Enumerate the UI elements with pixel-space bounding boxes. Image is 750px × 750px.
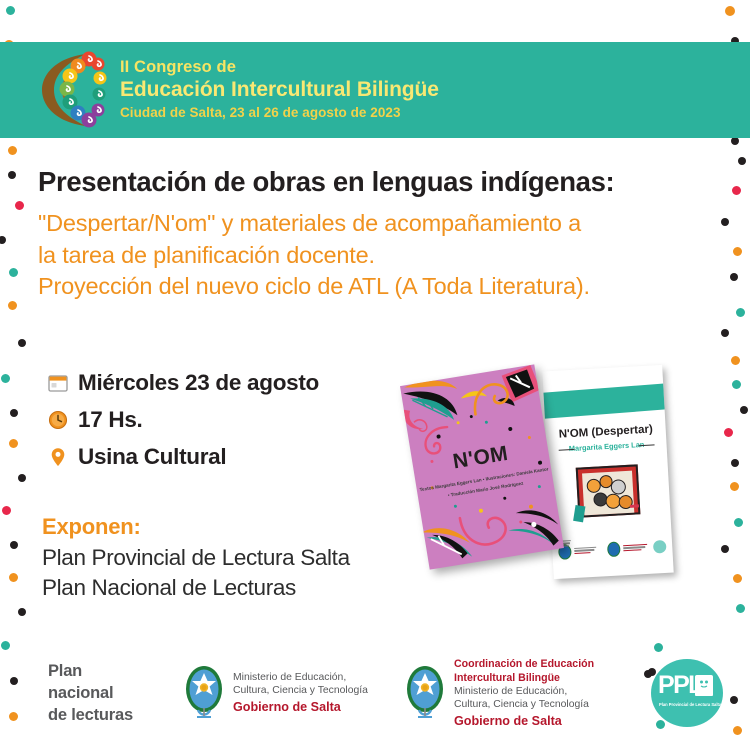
location-pin-icon <box>46 445 70 469</box>
decorative-dot <box>9 268 18 277</box>
decorative-dot <box>733 247 742 256</box>
presenter-item: Plan Nacional de Lecturas <box>42 573 350 603</box>
decorative-dot <box>732 186 741 195</box>
ppl-circle-logo <box>653 539 667 553</box>
decorative-dot <box>9 439 18 448</box>
gobierno-de-salta-label: Gobierno de Salta <box>233 699 368 715</box>
plan-nacional-de-lecturas-logo: Plan nacional de lecturas <box>48 661 133 727</box>
swirl-decoration <box>457 504 517 556</box>
detail-location-text: Usina Cultural <box>78 444 226 470</box>
salta-coordinacion-text: Coordinación de Educación Intercultural … <box>454 658 594 729</box>
curtain-shape <box>573 505 585 522</box>
congress-name: Educación Intercultural Bilingüe <box>120 77 439 103</box>
decorative-dot <box>721 218 729 226</box>
decorative-dot <box>2 506 11 515</box>
decorative-dot <box>18 608 26 616</box>
decorative-dot <box>0 236 6 244</box>
header-title-group: II Congreso de Educación Intercultural B… <box>120 57 439 123</box>
salta-coat-of-arms-icon <box>182 664 226 722</box>
accent-shape <box>630 504 639 507</box>
congress-place-dates: Ciudad de Salta, 23 al 26 de agosto de 2… <box>120 103 439 123</box>
mini-logo-text <box>623 544 647 552</box>
face <box>610 479 626 495</box>
pnl-line2: nacional <box>48 683 133 705</box>
subtitle-line-2: la tarea de planificación docente. <box>38 240 718 271</box>
subtitle-line-1: "Despertar/N'om" y materiales de acompañ… <box>38 208 718 239</box>
children-in-window-illustration <box>569 458 649 528</box>
coordinacion-line1: Coordinación de Educación <box>454 658 594 672</box>
decorative-dot <box>8 301 17 310</box>
decorative-dot <box>8 146 17 155</box>
confetti-dot <box>538 460 543 465</box>
decorative-dot <box>18 339 26 347</box>
gobierno-de-salta-label: Gobierno de Salta <box>454 713 594 729</box>
book-footer-logos <box>558 537 667 561</box>
swirl-decoration <box>466 374 516 421</box>
calendar-icon <box>46 371 70 395</box>
ministerio-line2: Cultura, Ciencia y Tecnología <box>233 684 368 697</box>
title-block: Presentación de obras en lenguas indígen… <box>38 166 718 302</box>
page-title: Presentación de obras en lenguas indígen… <box>38 166 718 198</box>
subtitle-line-3: Proyección del nuevo ciclo de ATL (A Tod… <box>38 271 718 302</box>
window-frame <box>576 464 641 517</box>
confetti-dot <box>454 505 457 508</box>
presenters-label: Exponen: <box>42 514 350 540</box>
ppl-circle-logo: PPL Plan Provincial de Lectura Salta <box>651 659 723 727</box>
pnl-line3: de lecturas <box>48 705 133 727</box>
decorative-dot <box>731 137 739 145</box>
salta-ministerio-logo: Ministerio de Educación, Cultura, Cienci… <box>182 664 368 722</box>
decorative-dot <box>724 428 733 437</box>
detail-row-location: Usina Cultural <box>46 442 319 472</box>
book-icon <box>695 675 713 696</box>
salta-ministerio-text: Ministerio de Educación, Cultura, Cienci… <box>233 671 368 715</box>
congress-edition-label: II Congreso de <box>120 57 439 78</box>
decorative-dot <box>9 573 18 582</box>
ministerio-line1: Ministerio de Educación, <box>233 671 368 684</box>
decorative-dot <box>10 409 18 417</box>
book-title-despertar: N'OM (Despertar) <box>546 423 666 442</box>
decorative-dot <box>733 574 742 583</box>
clock-icon <box>46 408 70 432</box>
decorative-dot <box>18 474 26 482</box>
decorative-dot <box>15 201 24 210</box>
footer-logos-bar: Plan nacional de lecturas Ministerio de … <box>0 648 750 750</box>
confetti-dot <box>508 427 513 432</box>
decorative-dot <box>732 380 741 389</box>
decorative-dot <box>734 518 743 527</box>
congress-spiral-arc-logo <box>40 50 112 130</box>
decorative-dot <box>730 273 738 281</box>
book-author-despertar: Margarita Eggers Lan <box>546 439 666 455</box>
decorative-dot <box>736 308 745 317</box>
detail-row-time: 17 Hs. <box>46 405 319 435</box>
presenter-item: Plan Provincial de Lectura Salta <box>42 543 350 573</box>
decorative-dot <box>725 6 735 16</box>
book-covers-group: Propuestas para agendar Nivel inicial y … <box>408 358 708 598</box>
decorative-dot <box>1 374 10 383</box>
window-pane <box>582 471 634 516</box>
decorative-dot <box>6 6 15 15</box>
decorative-dot <box>738 157 746 165</box>
decorative-dot <box>731 459 739 467</box>
ppl-subtitle: Plan Provincial de Lectura Salta <box>659 702 721 707</box>
salta-coat-of-arms-icon <box>403 664 447 722</box>
decorative-dot <box>10 541 18 549</box>
confetti-dot <box>503 497 506 500</box>
decorative-dot <box>730 482 739 491</box>
salta-coordinacion-eib-logo: Coordinación de Educación Intercultural … <box>403 658 594 729</box>
decorative-dot <box>721 545 729 553</box>
poster-canvas: II Congreso de Educación Intercultural B… <box>0 0 750 750</box>
decorative-dot <box>731 356 740 365</box>
coordinacion-line2: Intercultural Bilingüe <box>454 672 594 686</box>
decorative-dot <box>736 604 745 613</box>
detail-time-text: 17 Hs. <box>78 407 143 433</box>
book-cover-nom: N'OM Textos Margarita Eggers Lan • Ilust… <box>400 364 564 569</box>
detail-row-date: Miércoles 23 de agosto <box>46 368 319 398</box>
decorative-dot <box>740 406 748 414</box>
header-content: II Congreso de Educación Intercultural B… <box>40 50 439 130</box>
event-details-list: Miércoles 23 de agosto 17 Hs. Usina Cult… <box>46 368 319 479</box>
mini-logo-text <box>574 547 596 554</box>
pnl-line1: Plan <box>48 661 133 683</box>
decorative-dot <box>8 171 16 179</box>
ministerio-line1: Ministerio de Educación, <box>454 685 594 698</box>
presenters-section: Exponen: Plan Provincial de Lectura Salt… <box>42 514 350 603</box>
detail-date-text: Miércoles 23 de agosto <box>78 370 319 396</box>
ministerio-line2: Cultura, Ciencia y Tecnología <box>454 698 594 711</box>
confetti-dot <box>538 485 541 488</box>
decorative-dot <box>721 329 729 337</box>
salta-coat-of-arms-icon <box>607 541 621 557</box>
header-band: II Congreso de Educación Intercultural B… <box>0 42 750 138</box>
